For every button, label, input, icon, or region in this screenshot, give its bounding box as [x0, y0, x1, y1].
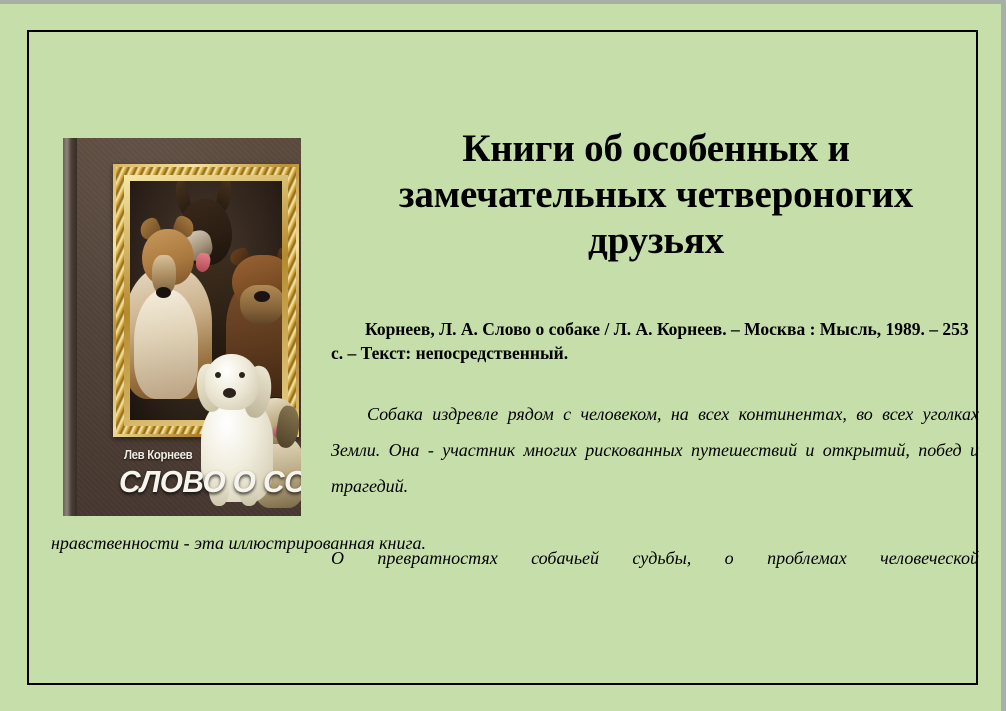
- book-cover-author: Лев Корнеев: [124, 447, 192, 462]
- slide-canvas: Лев Корнеев СЛОВО О СОБАКЕ Книги об особ…: [0, 4, 1001, 711]
- collie-ruff: [134, 289, 198, 399]
- bibliographic-citation: Корнеев, Л. А. Слово о собаке / Л. А. Ко…: [331, 317, 979, 367]
- spaniel-head: [205, 354, 259, 410]
- annotation-paragraph-tail: нравственности - эта иллюстрированная кн…: [51, 529, 979, 558]
- book-cover-title: СЛОВО О СОБАКЕ: [119, 464, 301, 500]
- spaniel-eye-right: [239, 372, 245, 378]
- book-spine: [63, 138, 77, 516]
- book-front-board: Лев Корнеев СЛОВО О СОБАКЕ: [77, 138, 301, 516]
- book-cover-image: Лев Корнеев СЛОВО О СОБАКЕ: [63, 138, 301, 516]
- airedale-nose: [254, 291, 270, 302]
- annotation-paragraph: Собака издревле рядом с человеком, на вс…: [331, 396, 979, 612]
- spaniel-nose: [223, 388, 236, 398]
- slide-edge-right: [1001, 0, 1006, 711]
- page-title: Книги об особенных и замечательных четве…: [336, 126, 976, 264]
- collie-nose: [156, 287, 171, 298]
- annotation-part-1: Собака издревле рядом с человеком, на вс…: [331, 404, 979, 532]
- spaniel-eye-left: [215, 372, 221, 378]
